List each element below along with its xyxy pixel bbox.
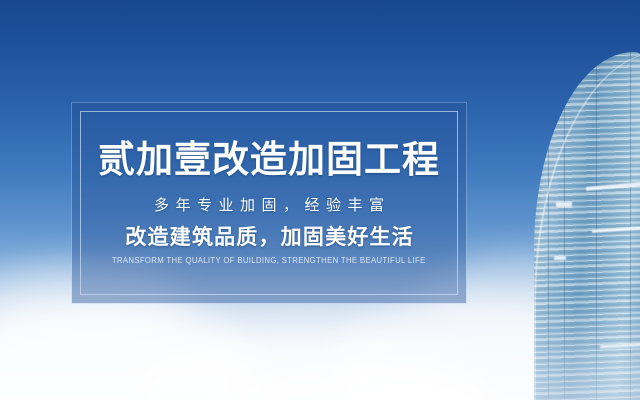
text-panel-content: 贰加壹改造加固工程 多年专业加固，经验丰富 改造建筑品质，加固美好生活 TRAN… bbox=[72, 103, 466, 303]
building-glass-glint bbox=[556, 202, 572, 207]
text-panel: 贰加壹改造加固工程 多年专业加固，经验丰富 改造建筑品质，加固美好生活 TRAN… bbox=[72, 103, 466, 303]
banner-subtitle-bold: 改造建筑品质，加固美好生活 bbox=[124, 227, 414, 248]
banner-tagline-english: TRANSFORM THE QUALITY OF BUILDING, STREN… bbox=[112, 257, 426, 265]
banner-subtitle-spaced: 多年专业加固，经验丰富 bbox=[147, 198, 390, 213]
banner-stage: 贰加壹改造加固工程 多年专业加固，经验丰富 改造建筑品质，加固美好生活 TRAN… bbox=[0, 0, 640, 400]
banner-title: 贰加壹改造加固工程 bbox=[98, 141, 440, 178]
building-base-haze bbox=[534, 300, 640, 400]
building-glass-glint bbox=[554, 256, 566, 260]
